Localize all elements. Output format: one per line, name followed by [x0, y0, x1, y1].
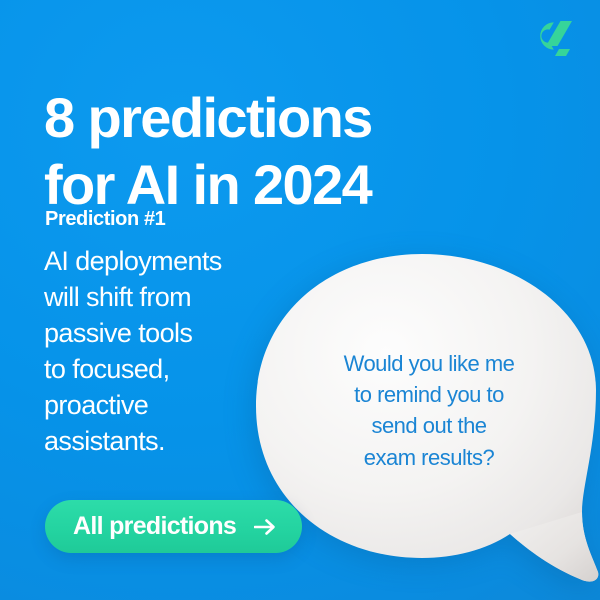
all-predictions-button[interactable]: All predictions	[45, 500, 302, 553]
prediction-body-text: AI deployments will shift from passive t…	[44, 244, 274, 459]
promo-card: 8 predictions for AI in 2024 Prediction …	[0, 0, 600, 600]
arrow-right-icon	[254, 518, 276, 536]
page-title: 8 predictions for AI in 2024	[44, 84, 514, 218]
speech-bubble-text: Would you like me to remind you to send …	[300, 348, 558, 473]
all-predictions-label: All predictions	[73, 512, 236, 541]
cl-monogram-icon	[526, 14, 578, 58]
prediction-label: Prediction #1	[45, 208, 165, 231]
